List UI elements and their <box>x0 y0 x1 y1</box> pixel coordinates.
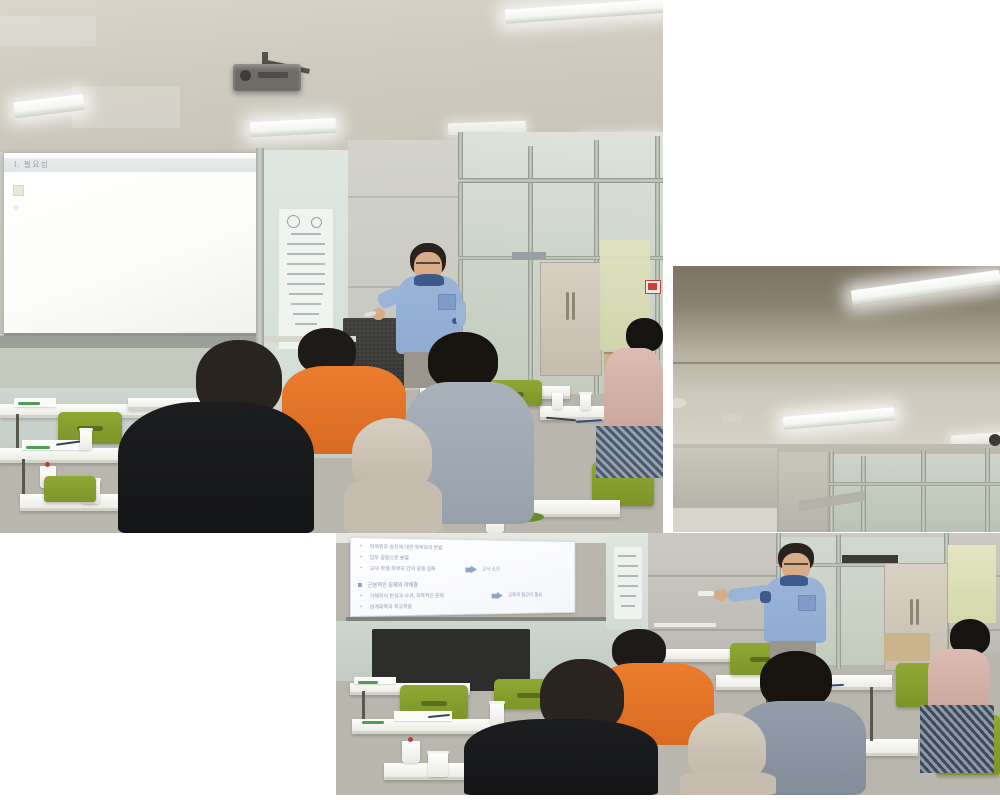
storage-cabinet <box>540 262 602 376</box>
slide-heading: 근본적인 문제의 미해결 <box>368 581 418 589</box>
shirt-pocket <box>438 294 456 310</box>
attendee-shirt <box>118 402 314 533</box>
chair-handle-slot <box>517 693 541 698</box>
attendee-shoulders <box>680 771 776 795</box>
partition-mullion <box>985 448 990 532</box>
presenter-remote <box>698 591 714 596</box>
partition-mullion <box>528 146 533 394</box>
projection-screen: ➢ 학력위주 승진에 대한 학부모의 반발 ➢ 업무 갈등으로 분열 ➢ 교사·… <box>350 537 575 617</box>
attendee-head <box>626 318 663 352</box>
partition-mullion <box>829 452 834 532</box>
paper-cup <box>490 703 504 725</box>
slide-arrow-icon <box>465 566 476 575</box>
cabinet-handle <box>572 292 575 320</box>
ceiling-panel <box>72 86 180 128</box>
attendee-patterned-dress <box>920 705 994 773</box>
attendee-head-covering <box>688 713 766 779</box>
attendee-blouse <box>604 348 663 430</box>
slide-line-1: 학력위주 승진에 대한 학부모의 반발 <box>370 543 443 551</box>
partition-rail <box>458 178 663 183</box>
ceiling-panel <box>0 16 96 46</box>
slide-bullet-icon: ➢ <box>359 604 363 610</box>
cherry-tomato-icon <box>45 462 50 467</box>
presenter-left-hand <box>714 589 728 601</box>
wall-panel <box>673 448 777 508</box>
wall-panel <box>779 452 827 532</box>
eyeglasses-icon <box>416 262 440 264</box>
slide-arrow-icon <box>492 592 503 600</box>
window-blind <box>948 545 996 623</box>
chart-text-row <box>618 575 638 577</box>
presenter-left-arm <box>456 300 466 326</box>
cup-lid <box>427 751 449 754</box>
slide-arrow-label-1: 교사 소진 <box>482 566 500 573</box>
photo-panel-wide-classroom-view: Ⅰ. 필요성 <box>0 0 663 533</box>
slide-section-marker <box>358 583 362 587</box>
shirt-pocket <box>798 595 816 611</box>
chart-text-row <box>287 283 325 285</box>
wall-seam <box>348 196 458 198</box>
slide-line-6: 관계회복과 학교적응 <box>370 603 412 610</box>
ceiling-vent <box>685 422 701 429</box>
chart-text-row <box>287 243 325 245</box>
slide-bullet-icon: ➢ <box>359 543 363 549</box>
attendee-shoulders <box>344 478 442 533</box>
slide-bullet-icon: ➢ <box>359 593 363 599</box>
snack-cup <box>402 741 420 763</box>
chart-text-row <box>618 555 636 557</box>
slide-line-2: 업무 갈등으로 분열 <box>370 554 409 561</box>
chart-text-row <box>618 585 638 587</box>
projector-lens-icon <box>240 70 251 81</box>
eyeglasses-icon <box>784 563 808 565</box>
slide-arrow-label-2: 교육적 접근이 필요 <box>508 592 542 599</box>
slide-number-badge <box>13 185 24 196</box>
cardboard-boxes <box>884 633 930 661</box>
cup-lid <box>79 428 93 431</box>
cherry-tomato-icon <box>408 737 413 742</box>
partition-mullion <box>921 450 926 532</box>
slide-bullet-icon: ➢ <box>359 565 363 571</box>
chart-seal-icon <box>287 215 300 228</box>
paper-cup <box>580 394 591 410</box>
green-pen <box>362 721 384 724</box>
exit-sign-icon <box>645 280 661 294</box>
cabinet-handle <box>566 292 569 320</box>
ceiling-seam <box>673 362 1000 364</box>
slide-line-5: 가해자의 반성과 사과, 회복적인 문제 <box>370 592 444 599</box>
chart-text-row <box>621 605 635 607</box>
wall-chart-poster <box>614 547 642 619</box>
table-leg <box>870 687 873 741</box>
cup-lid <box>551 390 564 393</box>
projector-vent <box>258 72 288 78</box>
chart-text-row <box>291 233 321 235</box>
photo-panel-slide-and-audience-view: ➢ 학력위주 승진에 대한 학부모의 반발 ➢ 업무 갈등으로 분열 ➢ 교사·… <box>336 533 1000 795</box>
chart-text-row <box>287 273 325 275</box>
chart-seal-icon <box>311 217 322 228</box>
sleeve-cuff <box>760 591 771 603</box>
security-camera-icon <box>989 434 1000 446</box>
photo-collage: Ⅰ. 필요성 <box>0 0 1000 800</box>
cabinet-top-shelf <box>512 252 546 260</box>
ceiling-vent <box>721 414 743 423</box>
chart-text-row <box>295 323 317 325</box>
paper-cup <box>80 430 92 450</box>
chair-handle-slot <box>421 701 447 706</box>
green-pen <box>358 681 378 684</box>
whiteboard-rail <box>654 623 716 627</box>
projection-screen: Ⅰ. 필요성 <box>3 152 258 338</box>
paper-cup <box>428 753 448 777</box>
slide-bullet-marker <box>13 205 19 210</box>
chart-text-row <box>293 313 319 315</box>
chart-text-row <box>291 303 321 305</box>
chart-text-row <box>620 595 636 597</box>
slide-title: Ⅰ. 필요성 <box>14 158 49 172</box>
slide-line-3: 교사·학생·학부모 간의 갈등 심화 <box>370 565 436 572</box>
cabinet-handle <box>910 599 913 625</box>
partition-rail <box>829 482 1000 486</box>
presenter-shirt <box>764 577 826 643</box>
chart-text-row <box>287 263 325 265</box>
cup-lid <box>579 392 592 395</box>
attendee-blouse <box>928 649 990 711</box>
classroom-chair <box>44 476 96 502</box>
presenter-collar <box>414 274 444 286</box>
cup-lid <box>489 701 505 704</box>
chart-text-row <box>287 253 325 255</box>
cabinet-top-shelf <box>842 555 898 563</box>
paper-cup <box>552 392 563 409</box>
attendee-patterned-skirt <box>596 426 663 478</box>
attendee-shirt <box>464 719 658 795</box>
green-pen <box>18 402 40 405</box>
cabinet-handle <box>916 599 919 625</box>
chart-text-row <box>618 565 638 567</box>
partition-mullion <box>836 535 841 669</box>
photo-panel-ceiling-and-partition-view <box>673 266 1000 532</box>
green-pen <box>26 446 50 449</box>
slide-bullet-icon: ➢ <box>359 554 363 560</box>
blue-pen <box>576 419 602 423</box>
wall-panel-lower <box>673 508 777 532</box>
chart-text-row <box>289 293 323 295</box>
presenter-collar <box>780 575 808 586</box>
